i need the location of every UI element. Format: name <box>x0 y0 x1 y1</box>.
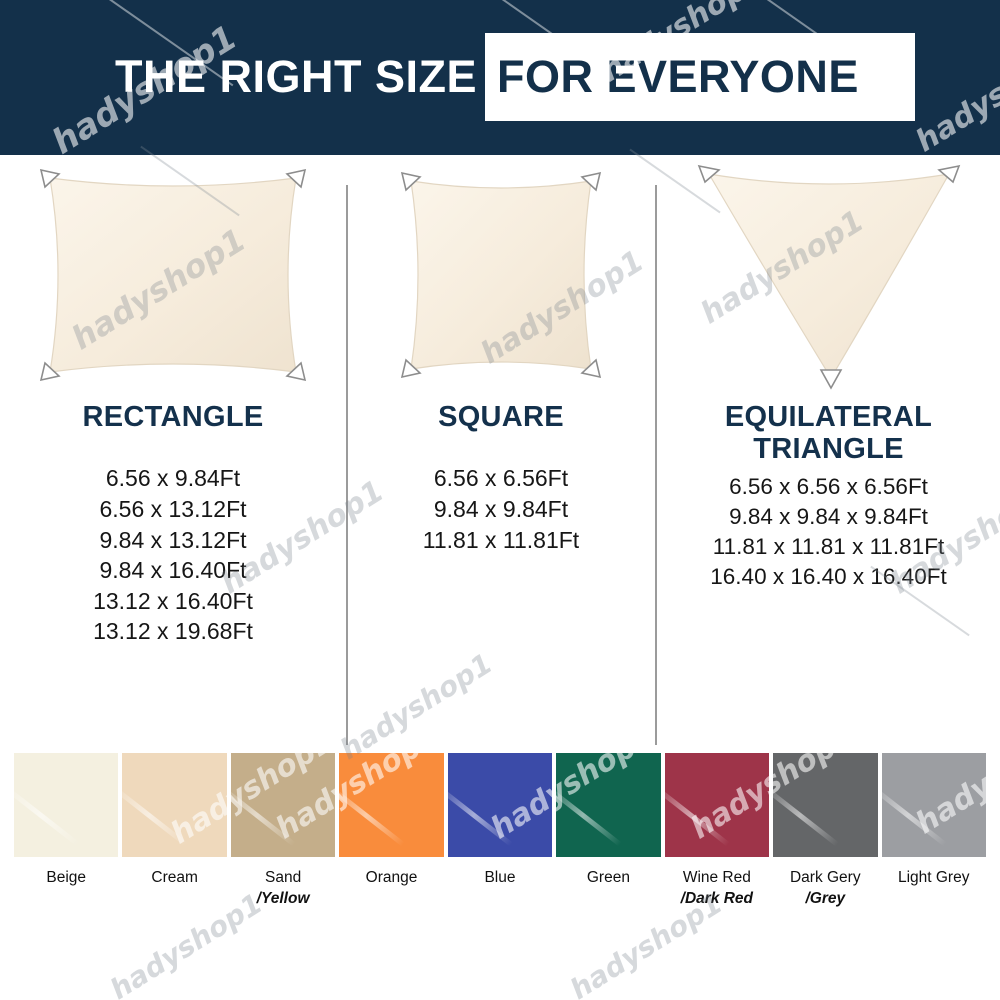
color-swatch-cream[interactable] <box>122 753 226 857</box>
size-line: 6.56 x 9.84Ft <box>0 463 346 494</box>
shape-title-square: SQUARE <box>348 401 654 433</box>
size-line: 6.56 x 6.56Ft <box>348 463 654 494</box>
color-swatch-sand[interactable] <box>231 753 335 857</box>
square-sail-image <box>348 155 654 395</box>
swatch-sheen <box>231 785 296 847</box>
swatch-sheen <box>122 785 187 847</box>
swatch-label-name: Light Grey <box>898 869 970 886</box>
size-line: 11.81 x 11.81 x 11.81Ft <box>657 532 1000 562</box>
size-line: 13.12 x 19.68Ft <box>0 616 346 647</box>
swatch-label-blue: Blue <box>448 868 552 910</box>
rectangle-sail-svg <box>28 160 318 390</box>
swatch-label-name: Orange <box>366 869 418 886</box>
swatch-label-beige: Beige <box>14 868 118 910</box>
size-line: 6.56 x 13.12Ft <box>0 494 346 525</box>
triangle-sail-svg <box>689 160 969 390</box>
size-list-triangle: 6.56 x 6.56 x 6.56Ft 9.84 x 9.84 x 9.84F… <box>657 472 1000 592</box>
triangle-sail-image <box>657 155 1000 395</box>
swatch-sheen <box>665 785 730 847</box>
size-line: 9.84 x 16.40Ft <box>0 555 346 586</box>
size-line: 13.12 x 16.40Ft <box>0 586 346 617</box>
swatch-label-alt: /Grey <box>773 889 877 910</box>
swatch-label-green: Green <box>556 868 660 910</box>
swatch-label-light-grey: Light Grey <box>882 868 986 910</box>
swatch-label-cream: Cream <box>122 868 226 910</box>
swatch-sheen <box>448 785 513 847</box>
swatch-label-dark-grey: Dark Gery /Grey <box>773 868 877 910</box>
swatch-label-name: Cream <box>151 869 198 886</box>
shape-title-triangle: EQUILATERAL TRIANGLE <box>657 401 1000 466</box>
size-line: 11.81 x 11.81Ft <box>348 525 654 556</box>
size-line: 6.56 x 6.56 x 6.56Ft <box>657 472 1000 502</box>
swatch-label-name: Wine Red <box>683 869 751 886</box>
color-swatch-orange[interactable] <box>339 753 443 857</box>
swatch-sheen <box>556 785 621 847</box>
swatch-label-name: Green <box>587 869 630 886</box>
size-line: 9.84 x 9.84Ft <box>348 494 654 525</box>
infographic-page: THE RIGHT SIZE FOR EVERYONE hadyshop1 ha… <box>0 0 1000 1000</box>
size-line: 16.40 x 16.40 x 16.40Ft <box>657 562 1000 592</box>
color-swatch-labels: Beige Cream Sand /Yellow Orange Blue Gre… <box>14 868 986 910</box>
color-swatch-beige[interactable] <box>14 753 118 857</box>
swatch-label-name: Beige <box>46 869 86 886</box>
watermark: hadyshop1 <box>910 32 1000 155</box>
shape-column-square: SQUARE 6.56 x 6.56Ft 9.84 x 9.84Ft 11.81… <box>348 155 654 555</box>
swatch-label-alt: /Yellow <box>231 889 335 910</box>
shape-column-triangle: EQUILATERAL TRIANGLE 6.56 x 6.56 x 6.56F… <box>657 155 1000 592</box>
size-line: 9.84 x 9.84 x 9.84Ft <box>657 502 1000 532</box>
color-swatch-blue[interactable] <box>448 753 552 857</box>
rectangle-sail-image <box>0 155 346 395</box>
color-swatch-green[interactable] <box>556 753 660 857</box>
page-title-highlight: THE RIGHT SIZE <box>85 33 485 121</box>
swatch-label-sand: Sand /Yellow <box>231 868 335 910</box>
page-title: THE RIGHT SIZE FOR EVERYONE <box>85 33 915 121</box>
swatch-sheen <box>773 785 838 847</box>
header-banner: THE RIGHT SIZE FOR EVERYONE hadyshop1 ha… <box>0 0 1000 155</box>
shape-title-rectangle: RECTANGLE <box>0 401 346 433</box>
swatch-sheen <box>14 785 79 847</box>
size-line: 9.84 x 13.12Ft <box>0 525 346 556</box>
swatch-sheen <box>339 785 404 847</box>
color-swatch-light-grey[interactable] <box>882 753 986 857</box>
shape-columns: RECTANGLE 6.56 x 9.84Ft 6.56 x 13.12Ft 9… <box>0 155 1000 735</box>
color-swatch-dark-grey[interactable] <box>773 753 877 857</box>
swatch-label-wine-red: Wine Red /Dark Red <box>665 868 769 910</box>
size-list-rectangle: 6.56 x 9.84Ft 6.56 x 13.12Ft 9.84 x 13.1… <box>0 463 346 646</box>
shape-column-rectangle: RECTANGLE 6.56 x 9.84Ft 6.56 x 13.12Ft 9… <box>0 155 346 647</box>
swatch-label-name: Sand <box>265 869 301 886</box>
swatch-label-alt: /Dark Red <box>665 889 769 910</box>
color-swatch-band <box>14 753 986 857</box>
page-title-rest: FOR EVERYONE <box>485 33 915 121</box>
swatch-sheen <box>882 785 947 847</box>
swatch-label-name: Blue <box>484 869 515 886</box>
size-list-square: 6.56 x 6.56Ft 9.84 x 9.84Ft 11.81 x 11.8… <box>348 463 654 555</box>
swatch-label-name: Dark Gery <box>790 869 861 886</box>
color-swatch-wine-red[interactable] <box>665 753 769 857</box>
swatch-label-orange: Orange <box>339 868 443 910</box>
square-sail-svg <box>391 163 611 388</box>
